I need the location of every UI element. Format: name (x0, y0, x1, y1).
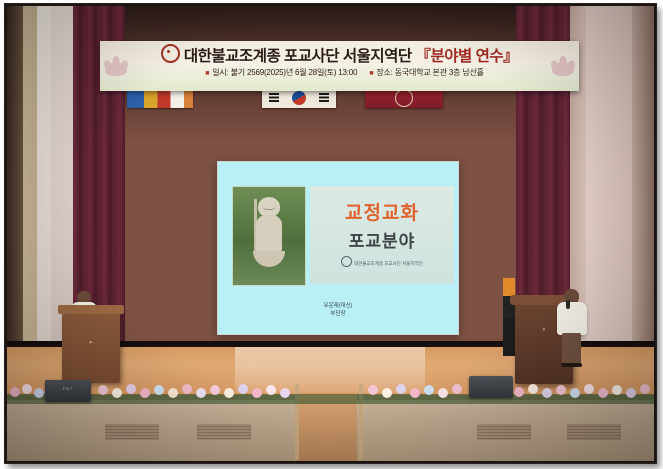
event-banner: 대한불교조계종 포교사단 서울지역단 『분야별 연수』 ■일시: 불기 2569… (100, 41, 579, 91)
slide-text-panel: 교정교화 포교분야 대한불교조계종 포교사단 서울지역단 (310, 186, 454, 284)
banner-subtitle: ■일시: 불기 2569(2025)년 6월 28일(토) 13:00 ■장소:… (100, 67, 579, 78)
dharma-wheel-icon (341, 256, 352, 267)
presentation-slide: 교정교화 포교분야 대한불교조계종 포교사단 서울지역단 (222, 186, 454, 296)
photo-frame: 대한불교조계종 포교사단 서울지역단 『분야별 연수』 ■일시: 불기 2569… (0, 0, 663, 469)
speaker-brand-label: FBT (45, 386, 91, 391)
apron-vent (197, 424, 251, 440)
banner-title: 대한불교조계종 포교사단 서울지역단 『분야별 연수』 (100, 44, 579, 66)
stage-speaker-box: FBT (45, 380, 91, 402)
bullet-icon: ■ (369, 70, 373, 77)
podium-left: ✦ (62, 311, 120, 383)
wall-panel-right-outer (630, 6, 654, 347)
korean-flag-icon (262, 88, 336, 108)
slide-presenter-caption: 유운제(대신) 부단장 (218, 302, 458, 319)
presenter-title: 부단장 (218, 310, 458, 318)
slide-logo-line2: 포교사단 서울지역단 (384, 261, 423, 266)
projection-screen: 교정교화 포교분야 대한불교조계종 포교사단 서울지역단 유운제(대신) 부단장 (217, 161, 459, 335)
microphone-icon (566, 300, 570, 309)
banner-date-label: 일시: (212, 68, 228, 77)
stone-monk-statue-icon (252, 197, 286, 267)
person-with-microphone (555, 289, 589, 367)
slide-organization-logo: 대한불교조계종 포교사단 서울지역단 (310, 256, 454, 267)
dharma-wheel-icon (161, 44, 180, 63)
organization-flag-icon (365, 88, 443, 108)
stage-center-stairs (297, 395, 357, 461)
apron-vent (105, 424, 159, 440)
banner-title-highlight: 『분야별 연수』 (415, 48, 518, 65)
apron-vent (477, 424, 531, 440)
buddhist-flag-icon (127, 88, 193, 108)
banner-title-main: 대한불교조계종 포교사단 서울지역단 (184, 48, 412, 65)
slide-logo-line1: 대한불교조계종 (354, 261, 383, 266)
stage-speaker-box (469, 376, 513, 398)
event-photograph: 대한불교조계종 포교사단 서울지역단 『분야별 연수』 ■일시: 불기 2569… (7, 6, 654, 461)
banner-place-value: 동국대학교 본관 3층 남산홀 (395, 68, 484, 77)
flower-arrangement-icon (7, 378, 654, 404)
slide-statue-photo (232, 186, 306, 286)
slide-subtitle: 포교분야 (310, 227, 454, 252)
apron-vent (567, 424, 621, 440)
banner-place-label: 장소: (376, 68, 392, 77)
banner-date-value: 불기 2569(2025)년 6월 28일(토) 13:00 (231, 68, 358, 77)
flag-row (127, 88, 557, 110)
presenter-name: 유운제(대신) (218, 302, 458, 310)
ceremonial-flag-icon (503, 278, 515, 356)
flower-row (7, 378, 654, 404)
bullet-icon: ■ (205, 70, 209, 77)
slide-title: 교정교화 (310, 198, 454, 225)
podium-emblem-icon: ✦ (74, 337, 108, 349)
wall-panel-far-left (7, 6, 23, 347)
